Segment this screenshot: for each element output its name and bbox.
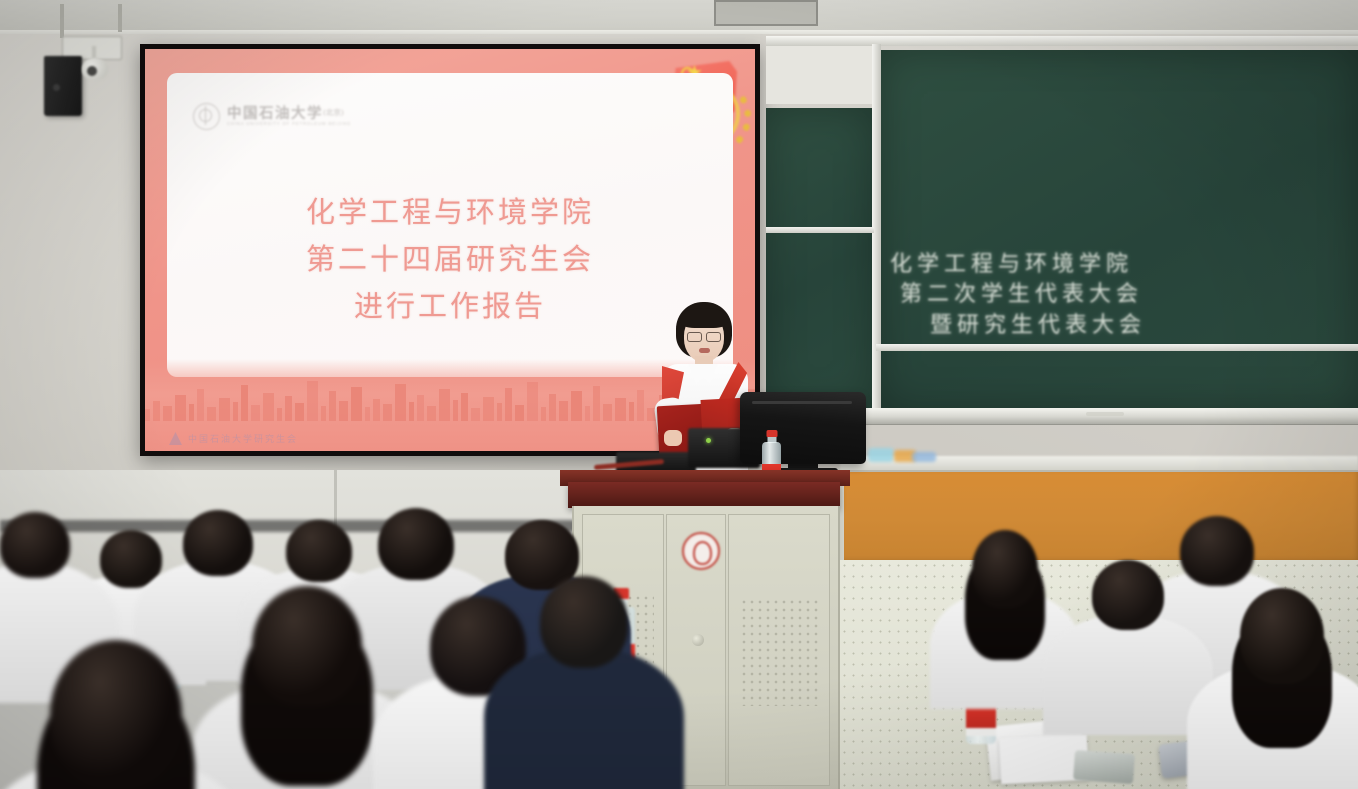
- speaker-icon: [44, 56, 82, 116]
- skyline-building: [395, 384, 406, 421]
- blackboard-left-top-white: [766, 44, 874, 104]
- audience-head: [286, 520, 352, 582]
- university-seal-icon: [193, 103, 220, 130]
- glasses-icon: [687, 332, 721, 340]
- audience-head: [378, 508, 454, 580]
- university-name-suffix: (北京): [323, 108, 344, 117]
- skyline-building: [329, 391, 336, 421]
- skyline-building: [339, 401, 348, 421]
- skyline-building: [603, 404, 612, 421]
- blackboard-divider-left: [766, 227, 874, 233]
- audience-head: [1240, 588, 1324, 684]
- blackboard-divider-main: [876, 344, 1358, 351]
- skyline-building: [541, 407, 546, 421]
- audience-head: [540, 576, 628, 668]
- security-camera-icon: [82, 58, 108, 80]
- skyline-building: [365, 407, 370, 421]
- ceiling-bracket: [60, 4, 64, 38]
- bottle-label-bottom: [966, 728, 996, 736]
- audience-head: [1180, 516, 1254, 586]
- skyline-building: [549, 394, 556, 421]
- audience-head: [0, 512, 70, 578]
- watermark-text: 中国石油大学研究生会: [188, 432, 298, 445]
- skyline-building: [207, 407, 216, 421]
- ledge-item: [868, 448, 894, 462]
- skyline-building: [263, 393, 274, 421]
- skyline-building: [559, 401, 568, 421]
- skyline-building: [585, 406, 590, 421]
- presenter-bangs: [680, 308, 728, 328]
- ceiling-bracket: [118, 4, 122, 32]
- audience-shoulders: [484, 648, 684, 789]
- skyline-building: [153, 401, 160, 421]
- classroom-photo-scene: 中国共青团 中国石油大学(北京) CHINA UNIVERSITY OF PET…: [0, 0, 1358, 789]
- podium-top: [568, 482, 840, 508]
- ledge-item: [912, 452, 936, 462]
- university-name-en: CHINA UNIVERSITY OF PETROLEUM-BEIJING: [227, 122, 351, 126]
- skyline-building: [233, 402, 238, 421]
- skyline-building: [571, 391, 582, 421]
- skyline-building: [285, 396, 292, 421]
- blackboard-panel-left: [766, 108, 874, 408]
- podium-knob: [692, 634, 704, 646]
- podium-perforation: [740, 598, 820, 706]
- slide-title-line-2: 第二十四届研究生会: [167, 236, 733, 283]
- blackboard-line-2: 第二次学生代表大会: [900, 280, 1358, 310]
- skyline-building: [219, 398, 230, 421]
- audience-head: [183, 510, 253, 576]
- skyline-building: [175, 395, 186, 421]
- skyline-building: [593, 386, 600, 421]
- blackboard-panel-main: [880, 50, 1358, 408]
- skyline-building: [527, 382, 538, 421]
- blackboard-writing: 化学工程与环境学院 第二次学生代表大会 暨研究生代表大会: [890, 250, 1358, 341]
- ceiling-vent: [714, 0, 818, 26]
- skyline-building: [439, 389, 450, 421]
- skyline-building: [505, 388, 512, 421]
- university-name-cn: 中国石油大学(北京): [227, 106, 351, 121]
- audience-head: [50, 640, 182, 789]
- skyline-building: [251, 405, 260, 421]
- skyline-building: [427, 406, 436, 421]
- skyline-building: [295, 403, 304, 421]
- skyline-building: [277, 408, 282, 421]
- slide-footer-watermark: 中国石油大学研究生会: [169, 432, 298, 445]
- wood-wall-panel: [840, 470, 1358, 564]
- blackboard-line-1: 化学工程与环境学院: [890, 250, 1358, 280]
- status-led: [706, 438, 711, 443]
- skyline-building: [515, 405, 524, 421]
- presenter-hand-left: [664, 430, 682, 446]
- skyline-building: [373, 399, 380, 421]
- skyline-building: [351, 387, 362, 421]
- skyline-building: [461, 393, 468, 421]
- slide-title-line-1: 化学工程与环境学院: [167, 189, 733, 236]
- skyline-building: [471, 408, 480, 421]
- chalk-piece: [1086, 412, 1124, 416]
- skyline-building: [409, 402, 414, 421]
- university-name-cn-main: 中国石油大学: [227, 105, 323, 122]
- presenter-mouth: [699, 348, 710, 353]
- skyline-building: [615, 398, 626, 421]
- ceiling: [0, 0, 1358, 34]
- skyline-building: [453, 400, 458, 421]
- skyline-building: [241, 385, 248, 421]
- skyline-building: [189, 404, 194, 421]
- skyline-building: [197, 389, 204, 421]
- smartphone: [1073, 750, 1135, 784]
- audience-head: [1092, 560, 1164, 630]
- audience-head: [972, 530, 1038, 608]
- skyline-building: [417, 395, 424, 421]
- slide-title: 化学工程与环境学院 第二十四届研究生会 进行工作报告: [167, 189, 733, 330]
- slide-content-card: 中国石油大学(北京) CHINA UNIVERSITY OF PETROLEUM…: [167, 73, 733, 377]
- skyline-building: [307, 381, 318, 421]
- blackboard-top-rail: [766, 36, 1358, 46]
- bottle-cap: [766, 430, 777, 437]
- blackboard-line-3: 暨研究生代表大会: [930, 311, 1358, 341]
- computer-monitor: [740, 392, 866, 464]
- skyline-building: [383, 404, 392, 421]
- university-logo: 中国石油大学(北京) CHINA UNIVERSITY OF PETROLEUM…: [193, 103, 351, 130]
- university-seal-icon: [682, 532, 720, 570]
- skyline-building: [497, 403, 502, 421]
- skyline-building: [163, 406, 172, 421]
- skyline-building: [629, 402, 634, 421]
- skyline-building: [145, 409, 150, 421]
- watermark-mark-icon: [169, 432, 182, 445]
- university-logo-text: 中国石油大学(北京) CHINA UNIVERSITY OF PETROLEUM…: [227, 106, 351, 127]
- audience-head: [252, 586, 362, 706]
- skyline-building: [637, 390, 644, 421]
- skyline-building: [321, 406, 326, 421]
- slide-title-line-3: 进行工作报告: [167, 283, 733, 330]
- skyline-building: [483, 397, 494, 421]
